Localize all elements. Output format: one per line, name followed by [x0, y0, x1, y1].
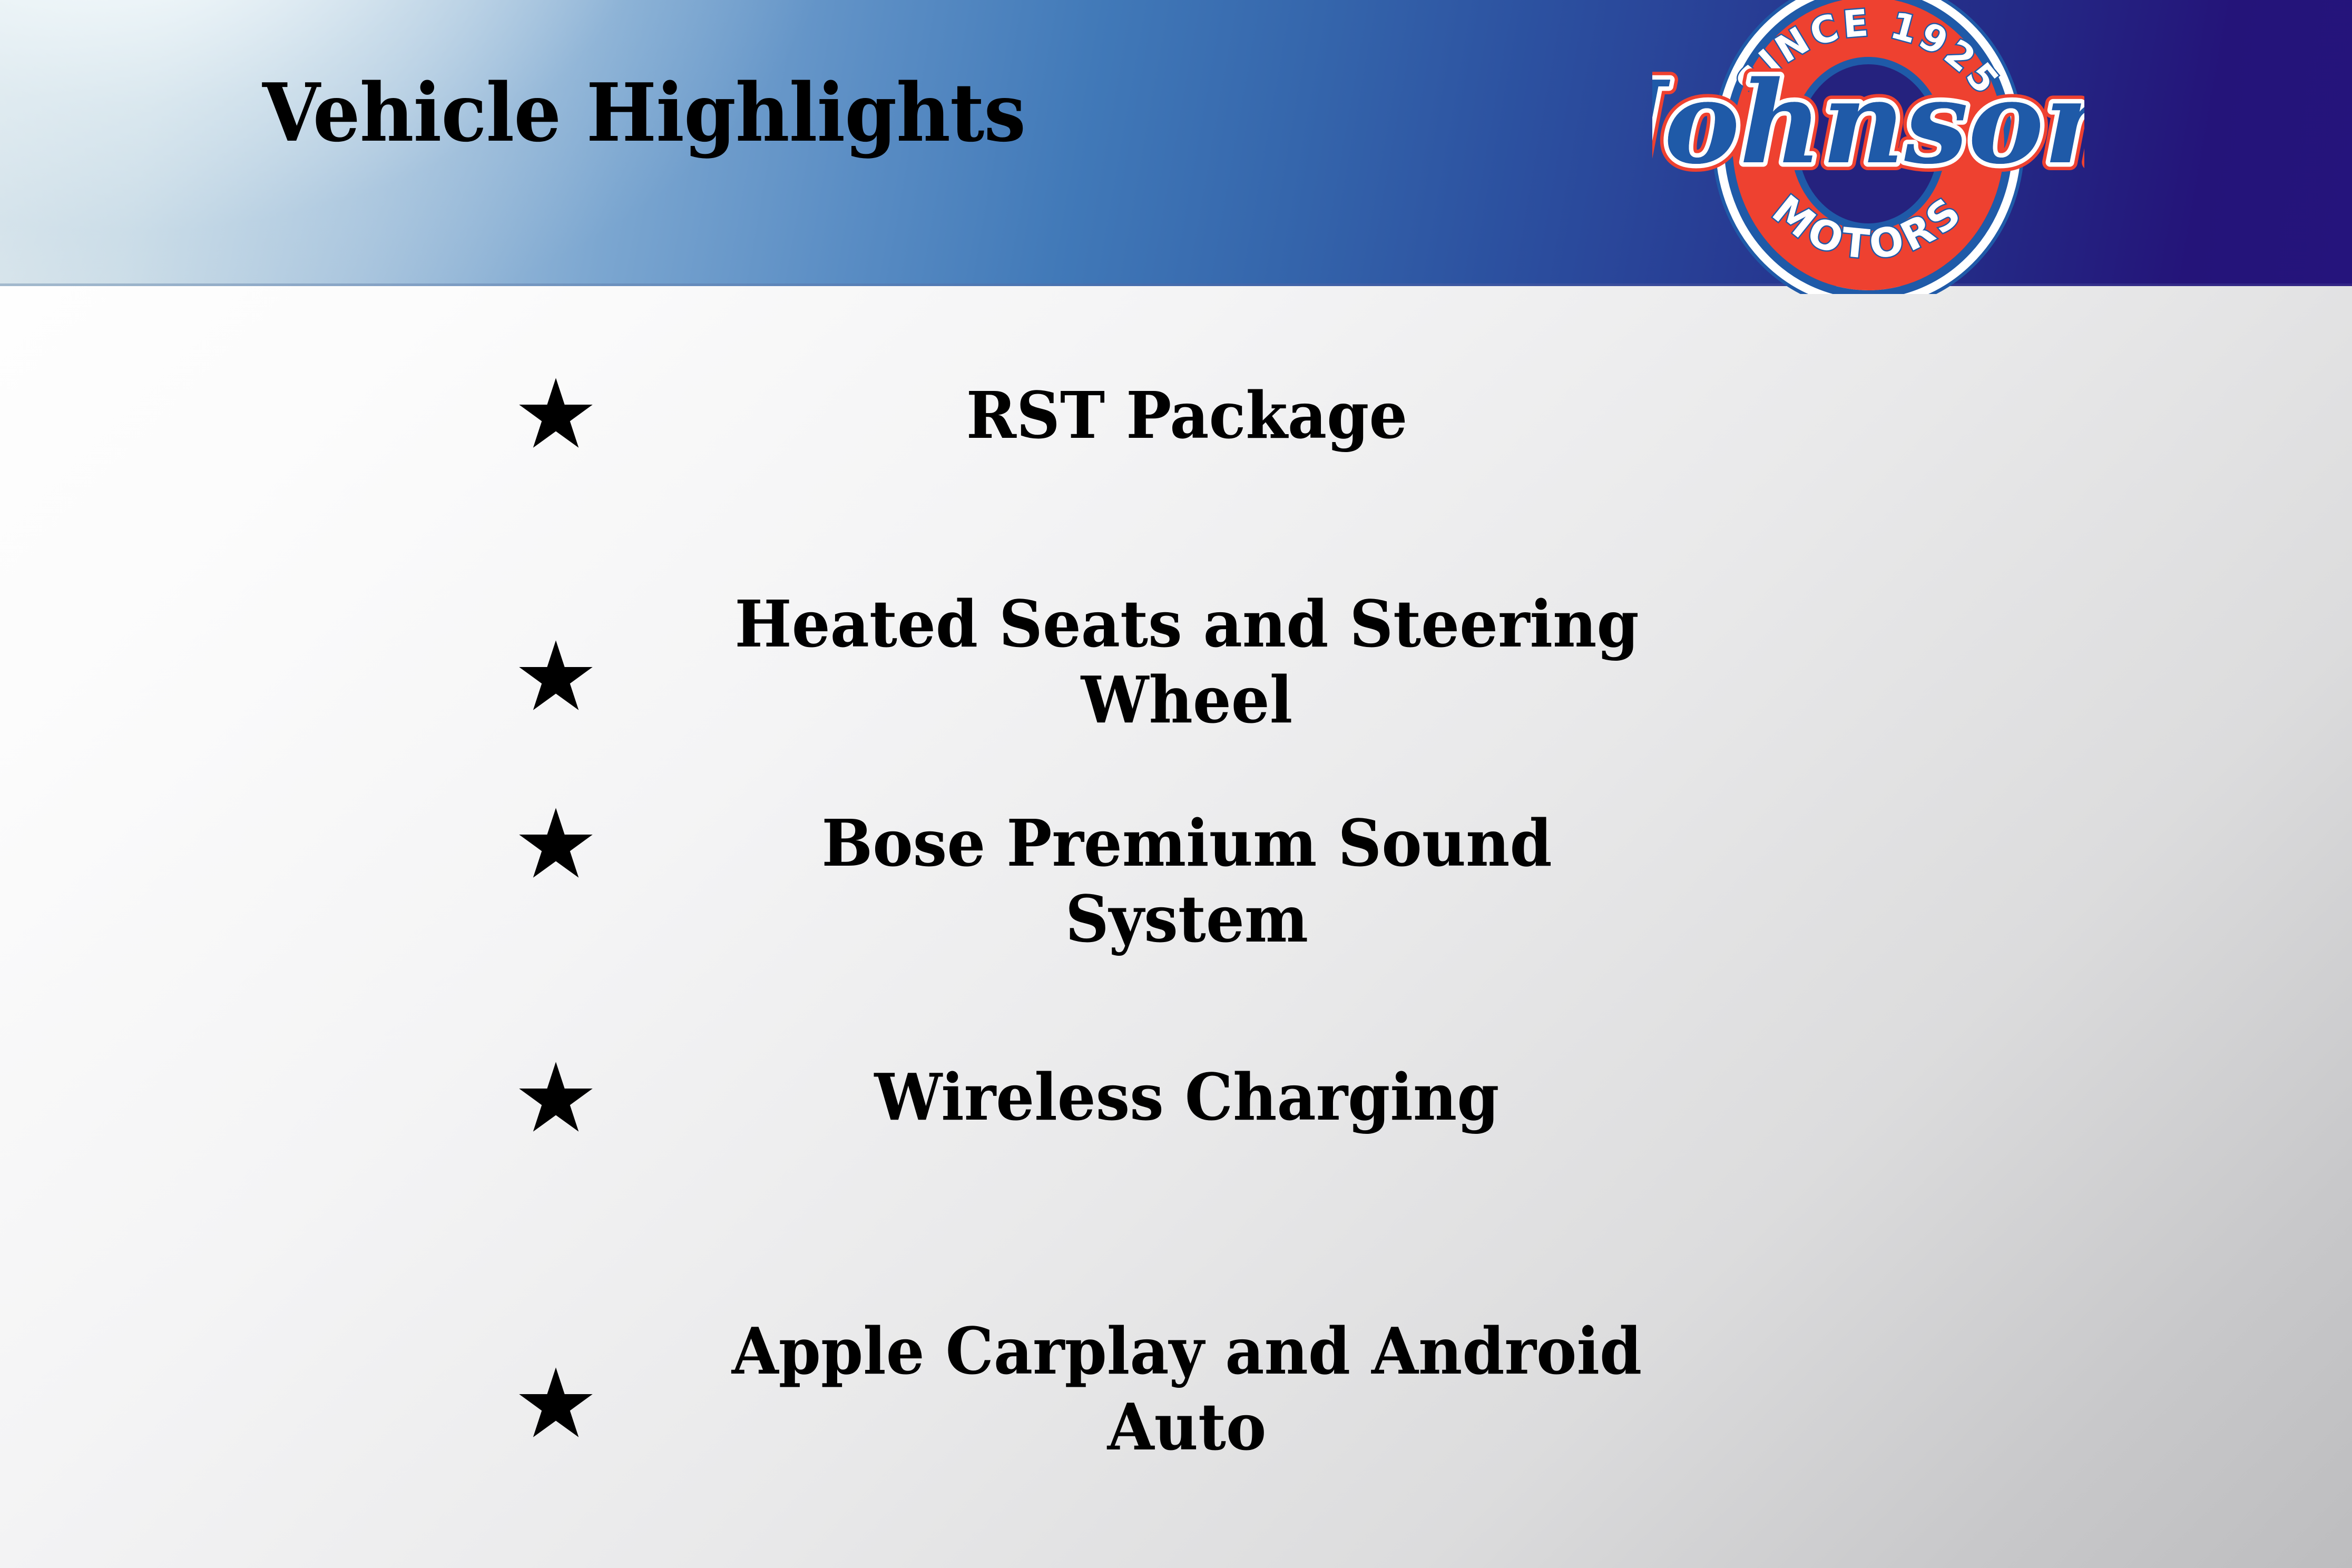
star-icon: ★: [508, 796, 603, 892]
page-title: Vehicle Highlights: [262, 73, 1025, 153]
list-item-line: Wireless Charging: [698, 1060, 1676, 1135]
list-item-line: Bose Premium Sound System: [698, 806, 1676, 957]
highlights-list: ★ RST Package ★ Heated Seats and Steerin…: [0, 286, 2352, 1568]
list-item-label: Apple Carplay and Android Auto: [698, 1314, 1676, 1465]
list-item-line: Heated Seats and Steering: [698, 586, 1676, 662]
logo-johnson-wordmark: Johnson Johnson Johnson: [1652, 56, 2084, 189]
list-item-line: Apple Carplay and Android: [698, 1314, 1676, 1389]
svg-text:Johnson: Johnson: [1652, 56, 2084, 189]
slide-canvas: Vehicle Highlights SINCE 1925: [0, 0, 2352, 1568]
list-item-label: Heated Seats and Steering Wheel: [698, 586, 1676, 738]
list-item-label: RST Package: [698, 378, 1676, 454]
star-icon: ★: [508, 629, 603, 724]
list-item-line: Auto: [698, 1389, 1676, 1465]
star-icon: ★: [508, 366, 603, 462]
list-item-label: Bose Premium Sound System: [698, 806, 1676, 957]
johnson-motors-logo: SINCE 1925 MOTORS Johnson Johnson Johnso…: [1652, 0, 2084, 294]
list-item-label: Wireless Charging: [698, 1060, 1676, 1135]
star-icon: ★: [508, 1356, 603, 1452]
star-icon: ★: [508, 1050, 603, 1146]
list-item-line: Wheel: [698, 662, 1676, 738]
list-item-line: RST Package: [698, 378, 1676, 454]
